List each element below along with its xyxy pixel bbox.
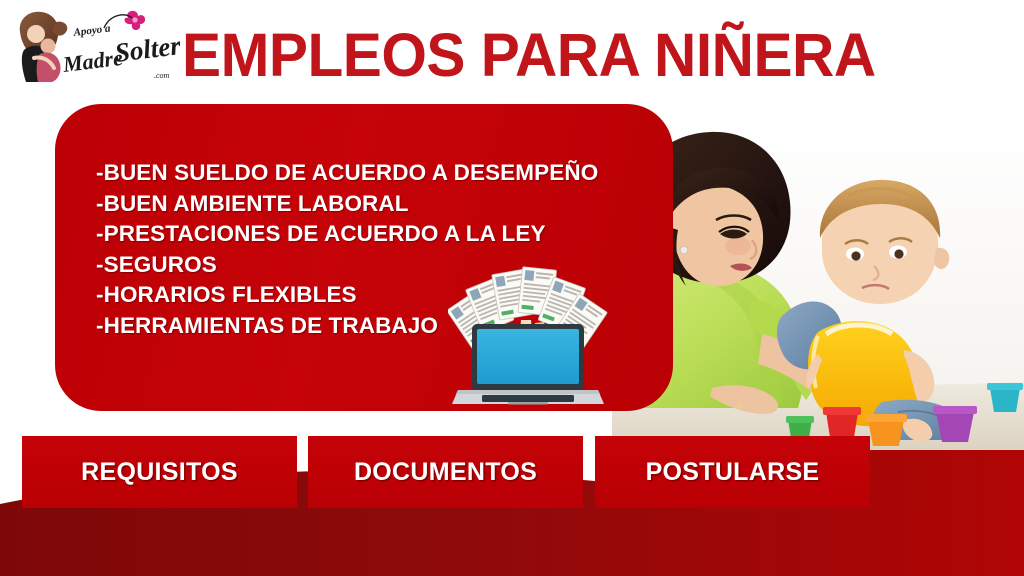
benefit-item: -BUEN SUELDO DE ACUERDO A DESEMPEÑO xyxy=(96,158,616,189)
benefits-list: -BUEN SUELDO DE ACUERDO A DESEMPEÑO -BUE… xyxy=(96,158,616,341)
nanny-with-toddler-photo xyxy=(612,120,1024,450)
logo-solteras-text: Solteras xyxy=(113,27,180,68)
documentos-button[interactable]: DOCUMENTOS xyxy=(308,436,583,508)
benefit-item: -HORARIOS FLEXIBLES xyxy=(96,280,616,311)
mother-and-child-icon xyxy=(20,12,67,82)
brand-logo[interactable]: Apoyo a Madre Solteras .com xyxy=(4,6,180,92)
benefit-item: -HERRAMIENTAS DE TRABAJO xyxy=(96,311,616,342)
page-title: EMPLEOS PARA NIÑERA xyxy=(182,21,854,89)
requisitos-button[interactable]: REQUISITOS xyxy=(22,436,297,508)
logo-com-text: .com xyxy=(154,71,170,80)
benefit-item: -BUEN AMBIENTE LABORAL xyxy=(96,189,616,220)
benefit-item: -PRESTACIONES DE ACUERDO A LA LEY xyxy=(96,219,616,250)
poster-canvas: Apoyo a Madre Solteras .com EMPLEOS PARA… xyxy=(0,0,1024,576)
benefit-item: -SEGUROS xyxy=(96,250,616,281)
postularse-button[interactable]: POSTULARSE xyxy=(595,436,870,508)
